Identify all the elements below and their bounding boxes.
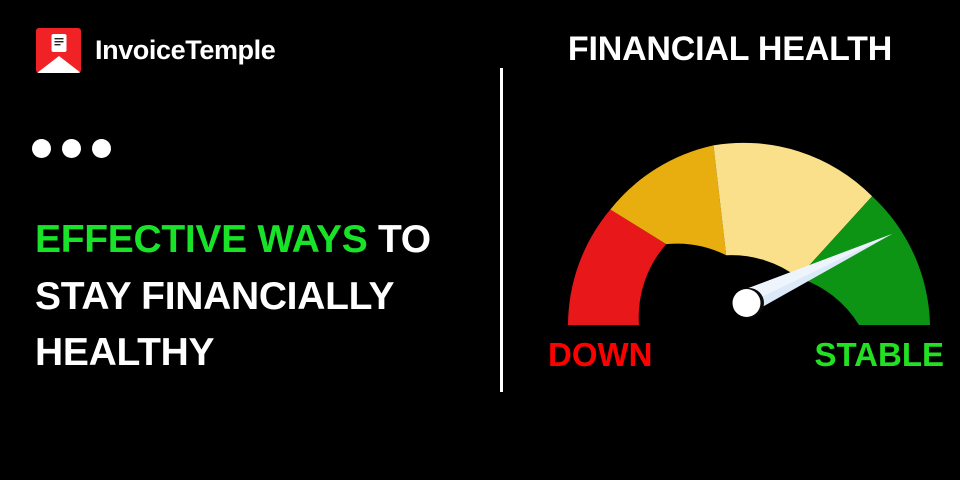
gauge-hub — [733, 289, 761, 317]
document-icon — [51, 34, 66, 52]
gauge-label-stable: STABLE — [814, 336, 944, 374]
headline-accent: EFFECTIVE WAYS — [35, 218, 367, 261]
decorative-dots — [32, 139, 111, 158]
dot-icon — [62, 139, 81, 158]
dot-icon — [92, 139, 111, 158]
dot-icon — [32, 139, 51, 158]
gauge-label-down: DOWN — [548, 336, 652, 374]
headline: EFFECTIVE WAYS TO STAY FINANCIALLY HEALT… — [35, 212, 475, 382]
panel-title: FINANCIAL HEALTH — [500, 30, 960, 69]
financial-health-gauge — [556, 130, 946, 335]
poster-canvas: InvoiceTemple EFFECTIVE WAYS TO STAY FIN… — [0, 0, 960, 480]
invoicetemple-logo-mark — [36, 28, 81, 73]
gauge-labels: DOWN STABLE — [500, 336, 960, 380]
gauge-svg — [556, 130, 946, 335]
brand-logo: InvoiceTemple — [36, 28, 275, 73]
temple-roof-shape — [37, 56, 81, 73]
brand-name: InvoiceTemple — [95, 35, 275, 66]
